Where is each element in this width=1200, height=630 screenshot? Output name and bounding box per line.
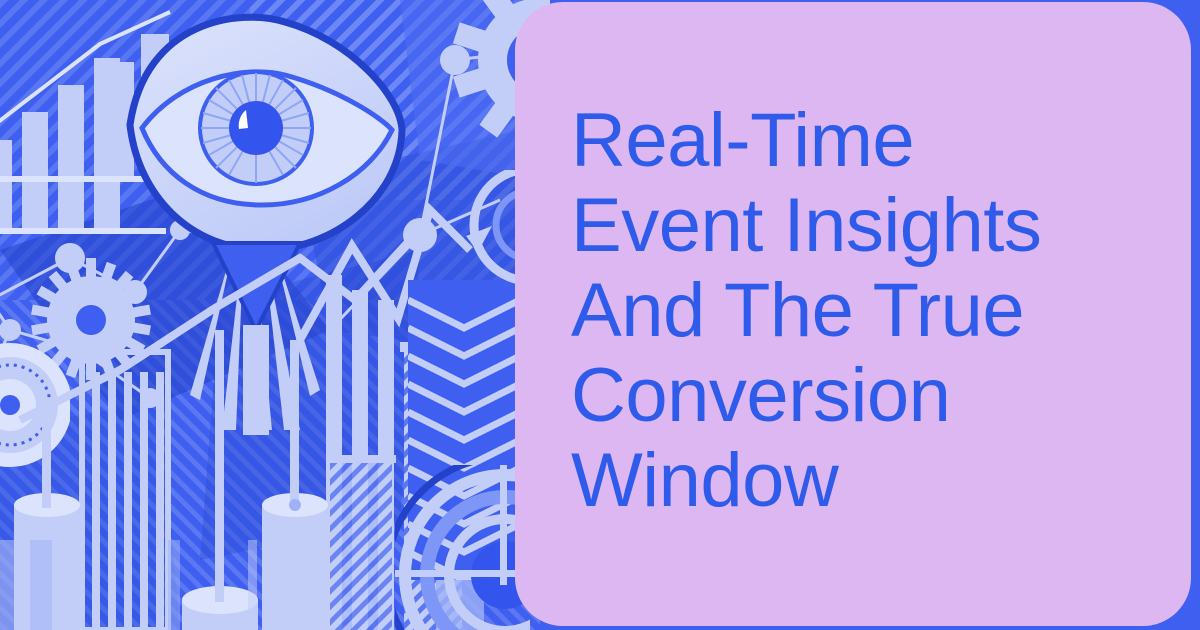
page-title: Real-Time Event Insights And The True Co… (571, 98, 1133, 523)
hero-banner: Real-Time Event Insights And The True Co… (0, 0, 1200, 630)
title-card: Real-Time Event Insights And The True Co… (515, 2, 1191, 626)
skyscraper-bars (326, 275, 396, 630)
